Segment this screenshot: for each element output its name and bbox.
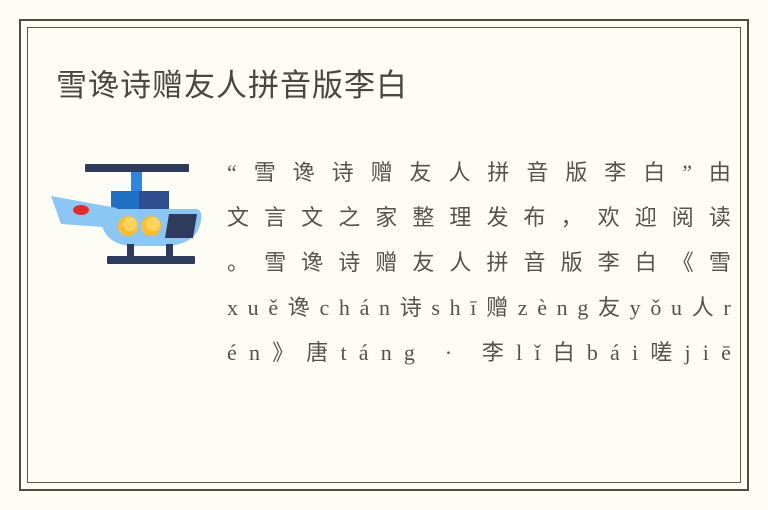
article-line-3: 。雪谗诗赠友人拼音版李白《雪 xyxy=(227,240,731,285)
page-title: 雪谗诗赠友人拼音版李白 xyxy=(56,64,408,108)
tail-light xyxy=(73,205,89,215)
article-line-1: “雪谗诗赠友人拼音版李白”由 xyxy=(227,150,731,195)
skid-strut-right xyxy=(166,244,173,258)
article-line-5: én》唐táng · 李lǐ白bái嗟jiē xyxy=(227,330,731,375)
landing-skid xyxy=(107,256,195,264)
article-line-2: 文言文之家整理发布，欢迎阅读 xyxy=(227,195,731,240)
page-root: 雪谗诗赠友人拼音版李白 xyxy=(0,0,768,510)
article-text: “雪谗诗赠友人拼音版李白”由 文言文之家整理发布，欢迎阅读 。雪谗诗赠友人拼音版… xyxy=(227,150,741,375)
cockpit-windshield xyxy=(165,214,197,238)
article-content: “雪谗诗赠友人拼音版李白”由 文言文之家整理发布，欢迎阅读 。雪谗诗赠友人拼音版… xyxy=(27,150,741,410)
engine-housing-shade xyxy=(139,191,169,209)
helicopter-icon xyxy=(47,158,207,268)
rotor-blade xyxy=(85,164,189,172)
cabin-window-left-inner xyxy=(123,217,137,231)
rotor-mast xyxy=(131,172,142,192)
cabin-window-right-inner xyxy=(146,217,160,231)
article-line-4: xuě谗chán诗shī赠zèng友yǒu人r xyxy=(227,285,731,330)
skid-strut-left xyxy=(127,244,134,258)
illustration-cell xyxy=(27,150,227,268)
